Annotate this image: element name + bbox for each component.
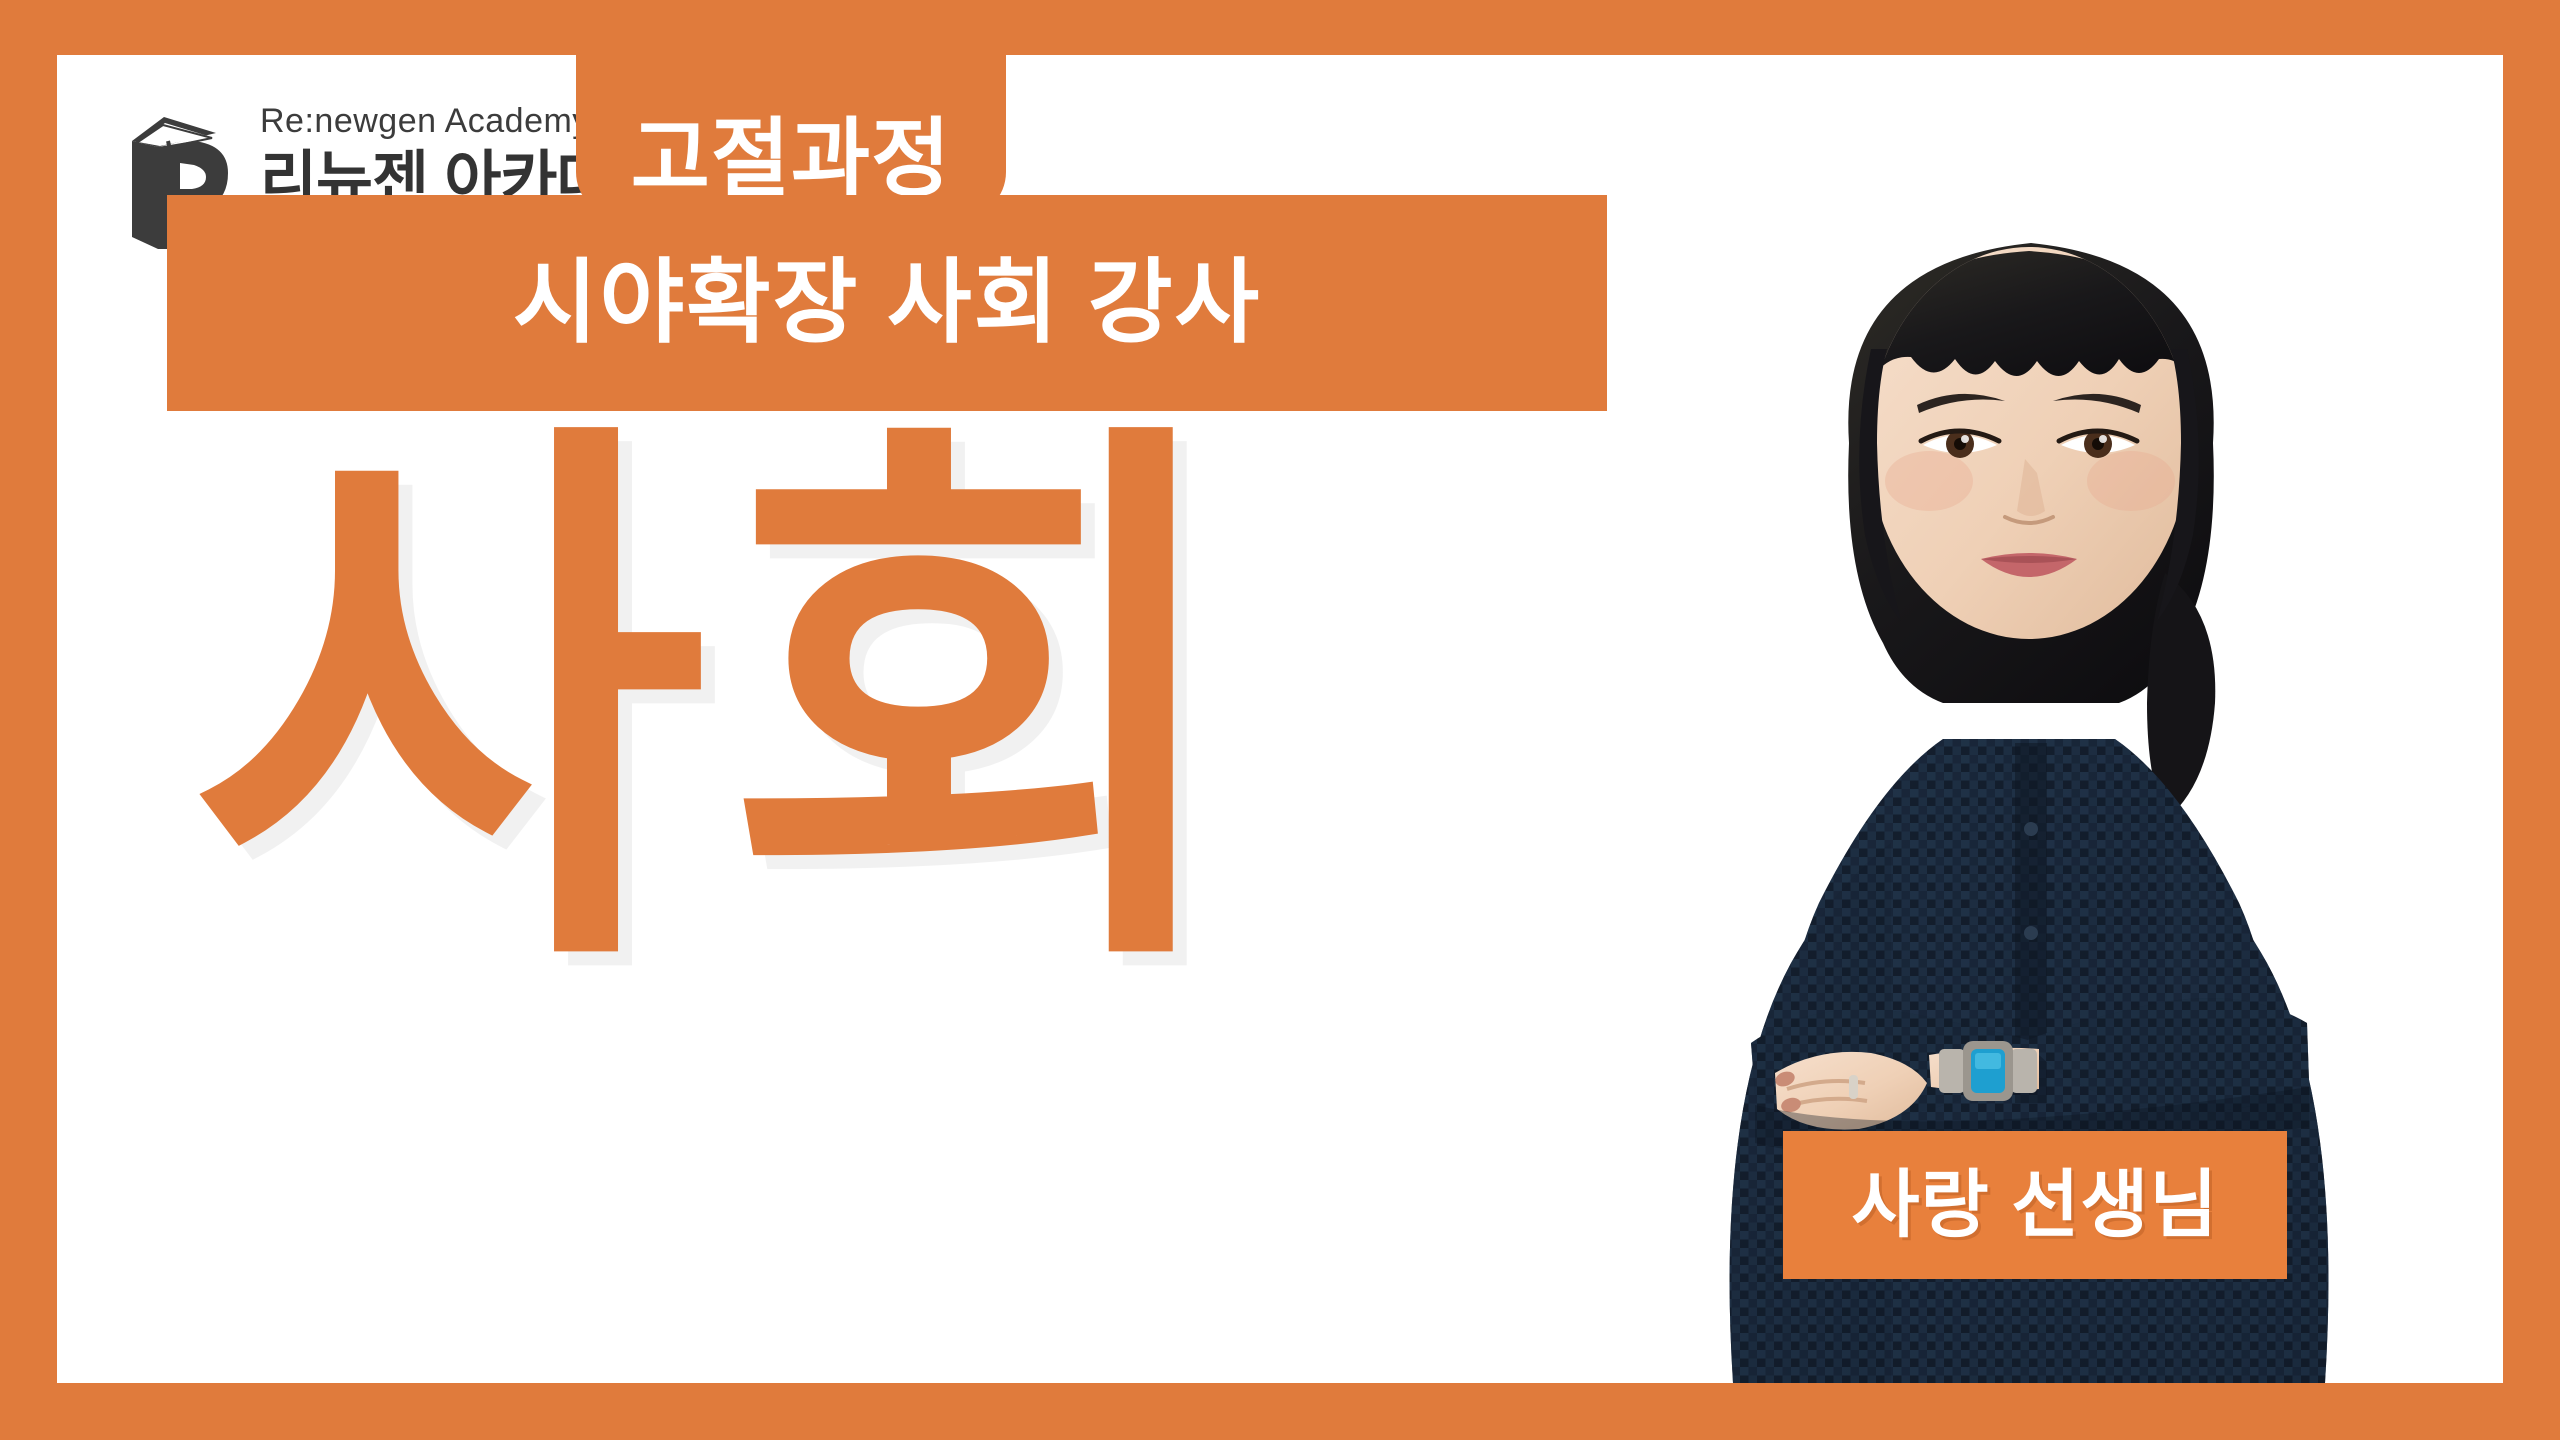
course-level-badge: 고절과정 — [576, 55, 1006, 218]
page-title: 사회 — [192, 425, 1572, 985]
instructor-name-plate: 사랑 선생님 — [1783, 1131, 2287, 1279]
subtitle-label: 시야확장 사회 강사 — [513, 257, 1261, 349]
course-level-badge-label: 고절과정 — [631, 116, 951, 202]
thumbnail-canvas: Re:newgen Academy 리뉴젠 아카데미 고절과정 시야확장 사회 … — [0, 0, 2560, 1440]
instructor-name-label: 사랑 선생님 — [1852, 1168, 2219, 1242]
subtitle-bar: 시야확장 사회 강사 — [167, 195, 1607, 411]
content-card: Re:newgen Academy 리뉴젠 아카데미 고절과정 시야확장 사회 … — [57, 55, 2503, 1383]
